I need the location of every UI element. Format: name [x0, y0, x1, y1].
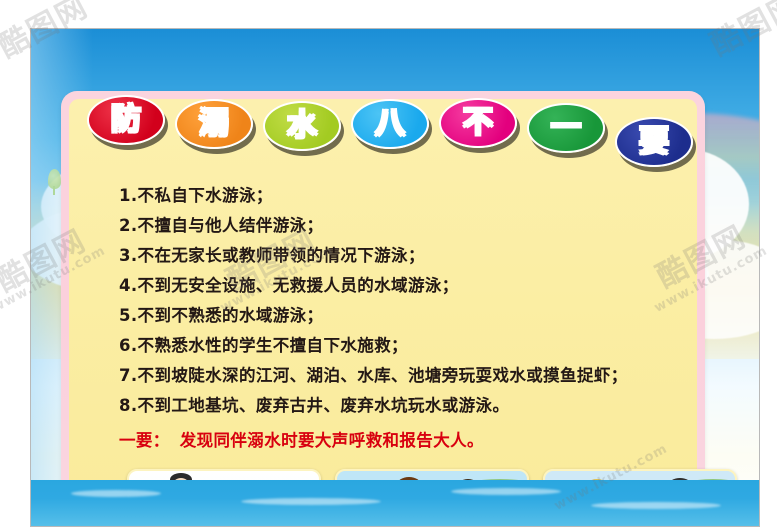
- title-bubble-ba: 八: [351, 99, 429, 149]
- poster-title: 防 溺 水 八 不 一 要: [87, 95, 760, 163]
- title-bubble-fang: 防: [87, 95, 165, 145]
- drowning-prevention-poster: 防 溺 水 八 不 一 要 1.不私自下水游泳； 2.不擅自与他人: [30, 28, 760, 527]
- highlight-label: 一要：: [119, 431, 170, 450]
- title-char: 溺: [199, 109, 229, 139]
- highlight-text: 发现同伴溺水时要大声呼救和报告大人。: [180, 431, 484, 450]
- title-char: 八: [375, 109, 405, 139]
- title-char: 不: [463, 108, 493, 138]
- screenshot-canvas: 防 溺 水 八 不 一 要 1.不私自下水游泳； 2.不擅自与他人: [0, 0, 777, 527]
- title-char: 防: [111, 105, 141, 135]
- title-bubble-yi: 一: [527, 103, 605, 153]
- rule-item: 5.不到不熟悉的水域游泳；: [119, 301, 739, 331]
- rule-item: 4.不到无安全设施、无救援人员的水域游泳；: [119, 271, 739, 301]
- leaf-decoration-icon: [48, 169, 61, 189]
- title-char: 要: [639, 127, 669, 157]
- title-bubble-bu: 不: [439, 98, 517, 148]
- title-char: 一: [551, 113, 581, 143]
- rule-item: 8.不到工地基坑、废弃古井、废弃水坑玩水或游泳。: [119, 391, 739, 421]
- title-bubble-yao: 要: [615, 117, 693, 167]
- title-char: 水: [287, 111, 317, 141]
- highlight-rule: 一要：发现同伴溺水时要大声呼救和报告大人。: [119, 427, 484, 455]
- rule-item: 3.不在无家长或教师带领的情况下游泳；: [119, 241, 739, 271]
- rule-item: 1.不私自下水游泳；: [119, 181, 739, 211]
- rule-item: 2.不擅自与他人结伴游泳；: [119, 211, 739, 241]
- rule-item: 6.不熟悉水性的学生不擅自下水施救；: [119, 331, 739, 361]
- title-bubble-shui: 水: [263, 101, 341, 151]
- rule-item: 7.不到坡陡水深的江河、湖泊、水库、池塘旁玩耍戏水或摸鱼捉虾；: [119, 361, 739, 391]
- rules-list: 1.不私自下水游泳； 2.不擅自与他人结伴游泳； 3.不在无家长或教师带领的情况…: [119, 181, 739, 421]
- title-bubble-ni: 溺: [175, 99, 253, 149]
- water-strip: [31, 480, 759, 526]
